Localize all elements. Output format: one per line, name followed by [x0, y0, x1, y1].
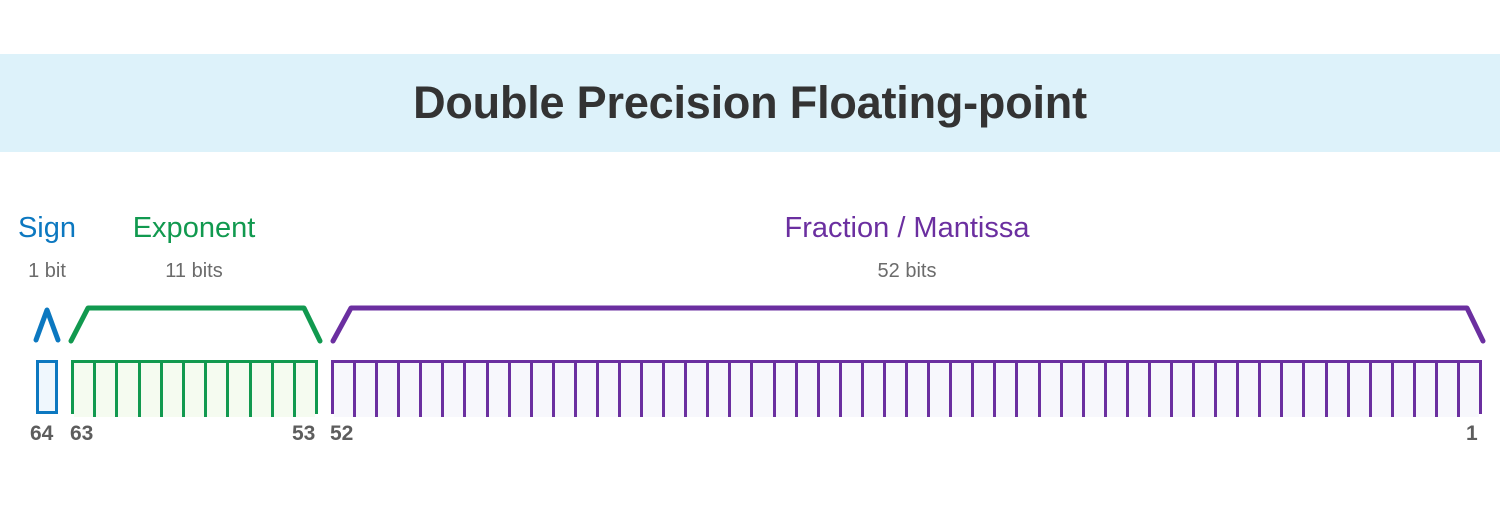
bit-cell-fraction — [1416, 363, 1438, 417]
index-label-53: 53 — [292, 422, 315, 446]
bit-cell-fraction — [555, 363, 577, 417]
bit-cell-fraction — [1085, 363, 1107, 417]
bit-cell-fraction — [1239, 363, 1261, 417]
bit-cell-fraction — [1328, 363, 1350, 417]
bit-cell-fraction — [422, 363, 444, 417]
bit-cell-fraction — [798, 363, 820, 417]
bitfield-exponent — [71, 360, 318, 414]
bit-cell-fraction — [1129, 363, 1151, 417]
bit-cell-exponent — [163, 363, 185, 417]
bracket-exponent — [71, 308, 320, 341]
bit-cell-exponent — [141, 363, 163, 417]
bit-cell-fraction — [533, 363, 555, 417]
bit-cell-exponent — [96, 363, 118, 417]
bit-cell-fraction — [864, 363, 886, 417]
bitfield-fraction — [331, 360, 1482, 414]
bracket-fraction — [333, 308, 1483, 341]
label-fraction: Fraction / Mantissa — [707, 212, 1107, 245]
bit-cell-exponent — [274, 363, 296, 417]
title-banner: Double Precision Floating-point — [0, 54, 1500, 152]
bits-fraction: 52 bits — [707, 260, 1107, 283]
bit-cell-fraction — [731, 363, 753, 417]
bit-cell-fraction — [378, 363, 400, 417]
bit-cell-fraction — [1063, 363, 1085, 417]
bit-cell-fraction — [577, 363, 599, 417]
bit-cell-fraction — [952, 363, 974, 417]
bit-cell-fraction — [1350, 363, 1372, 417]
bit-cell-fraction — [886, 363, 908, 417]
bit-cell-exponent — [296, 363, 315, 417]
bit-cell-fraction — [1438, 363, 1460, 417]
bit-cell-fraction — [1460, 363, 1479, 417]
bit-cell-exponent — [74, 363, 96, 417]
bit-cell-fraction — [1151, 363, 1173, 417]
label-exponent: Exponent — [94, 212, 294, 245]
bit-cell-fraction — [1195, 363, 1217, 417]
bit-cell-fraction — [356, 363, 378, 417]
bit-cell-fraction — [1283, 363, 1305, 417]
bit-cell-fraction — [753, 363, 775, 417]
bit-cell-fraction — [643, 363, 665, 417]
bits-exponent: 11 bits — [94, 260, 294, 283]
bit-cell-fraction — [489, 363, 511, 417]
bit-cell-fraction — [1041, 363, 1063, 417]
bit-cell-fraction — [334, 363, 356, 417]
bit-cell-fraction — [974, 363, 996, 417]
bit-cell-fraction — [1173, 363, 1195, 417]
bit-cell-fraction — [665, 363, 687, 417]
bit-cell-fraction — [444, 363, 466, 417]
bit-cell-exponent — [118, 363, 140, 417]
index-label-52: 52 — [330, 422, 353, 446]
diagram-canvas: Double Precision Floating-point Sign 1 b… — [0, 0, 1500, 527]
bit-cell-fraction — [908, 363, 930, 417]
bit-cell-fraction — [1394, 363, 1416, 417]
index-label-64: 64 — [30, 422, 53, 446]
bit-cell-fraction — [842, 363, 864, 417]
bit-cell-fraction — [687, 363, 709, 417]
bit-cell-sign — [39, 363, 55, 417]
bit-cell-fraction — [466, 363, 488, 417]
bit-cell-fraction — [709, 363, 731, 417]
bit-cell-fraction — [599, 363, 621, 417]
bit-cell-exponent — [185, 363, 207, 417]
bit-cell-fraction — [621, 363, 643, 417]
bit-cell-fraction — [930, 363, 952, 417]
bitfield-sign — [36, 360, 58, 414]
bit-cell-fraction — [1107, 363, 1129, 417]
bit-cell-fraction — [511, 363, 533, 417]
bit-cell-fraction — [776, 363, 798, 417]
bit-cell-fraction — [1018, 363, 1040, 417]
bit-cell-exponent — [207, 363, 229, 417]
bit-cell-fraction — [996, 363, 1018, 417]
bit-cell-exponent — [252, 363, 274, 417]
index-label-1: 1 — [1466, 422, 1478, 446]
bit-cell-fraction — [1372, 363, 1394, 417]
bit-cell-fraction — [1261, 363, 1283, 417]
bit-cell-exponent — [229, 363, 251, 417]
page-title: Double Precision Floating-point — [413, 77, 1087, 129]
bracket-sign — [36, 310, 58, 340]
index-label-63: 63 — [70, 422, 93, 446]
bit-cell-fraction — [820, 363, 842, 417]
bit-cell-fraction — [400, 363, 422, 417]
bit-cell-fraction — [1217, 363, 1239, 417]
bit-cell-fraction — [1305, 363, 1327, 417]
